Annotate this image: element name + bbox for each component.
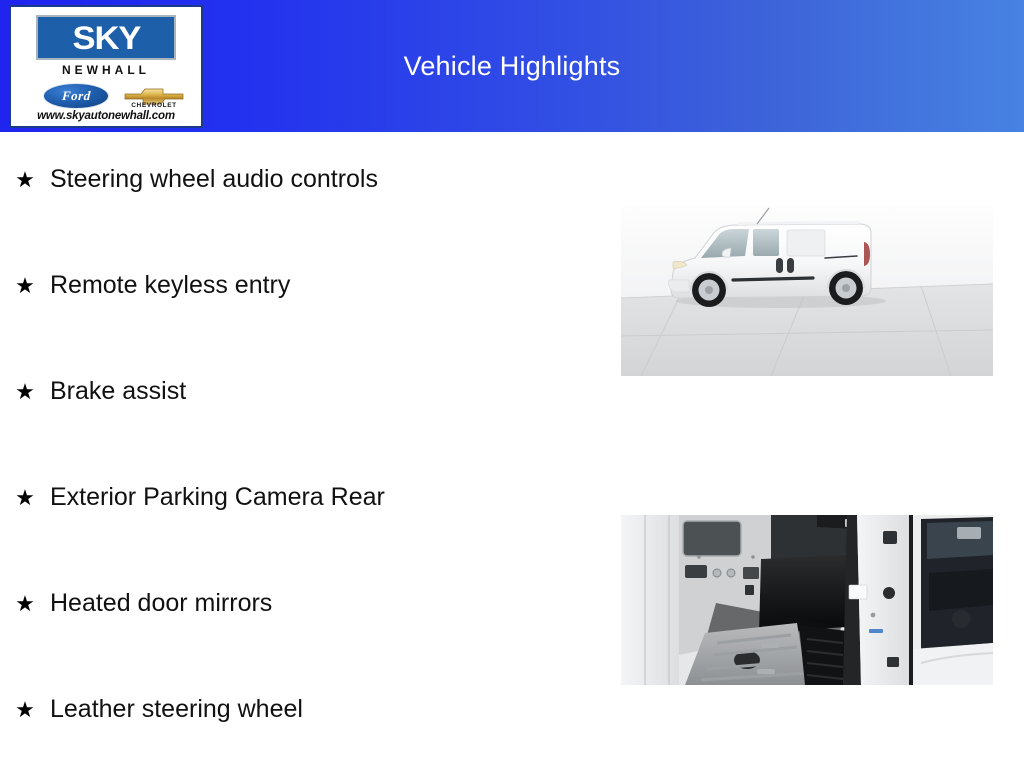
ford-wordmark: Ford: [61, 88, 91, 104]
star-bullet-icon: ★: [14, 699, 36, 721]
list-item: ★ Leather steering wheel: [14, 696, 600, 768]
list-item: ★ Brake assist: [14, 378, 600, 484]
dealer-logo-inner: SKY NEWHALL Ford: [11, 7, 201, 126]
vehicle-photo-exterior: [621, 206, 993, 376]
star-bullet-icon: ★: [14, 593, 36, 615]
chevrolet-caption: CHEVROLET: [123, 102, 185, 109]
star-bullet-icon: ★: [14, 487, 36, 509]
star-bullet-icon: ★: [14, 169, 36, 191]
vehicle-highlights-slide: Vehicle Highlights SKY NEWHALL Ford: [0, 0, 1024, 768]
list-item: ★ Heated door mirrors: [14, 590, 600, 696]
highlight-label: Remote keyless entry: [50, 272, 290, 300]
highlight-label: Heated door mirrors: [50, 590, 272, 618]
dealer-logo[interactable]: SKY NEWHALL Ford: [9, 5, 203, 128]
highlight-label: Steering wheel audio controls: [50, 166, 378, 194]
star-bullet-icon: ★: [14, 381, 36, 403]
highlight-label: Brake assist: [50, 378, 186, 406]
list-item: ★ Remote keyless entry: [14, 272, 600, 378]
star-bullet-icon: ★: [14, 275, 36, 297]
vehicle-highlights-list: ★ Steering wheel audio controls ★ Remote…: [0, 132, 600, 768]
sky-wordmark: SKY: [72, 22, 140, 54]
vehicle-photo-interior: [621, 515, 993, 685]
ford-oval-icon: Ford: [43, 83, 109, 109]
highlight-label: Leather steering wheel: [50, 696, 303, 724]
list-item: ★ Exterior Parking Camera Rear: [14, 484, 600, 590]
dealer-website-url: www.skyautonewhall.com: [11, 110, 201, 122]
list-item: ★ Steering wheel audio controls: [14, 166, 600, 272]
sky-brand-plate: SKY: [36, 15, 176, 60]
highlight-label: Exterior Parking Camera Rear: [50, 484, 385, 512]
dealer-location-label: NEWHALL: [11, 63, 201, 77]
